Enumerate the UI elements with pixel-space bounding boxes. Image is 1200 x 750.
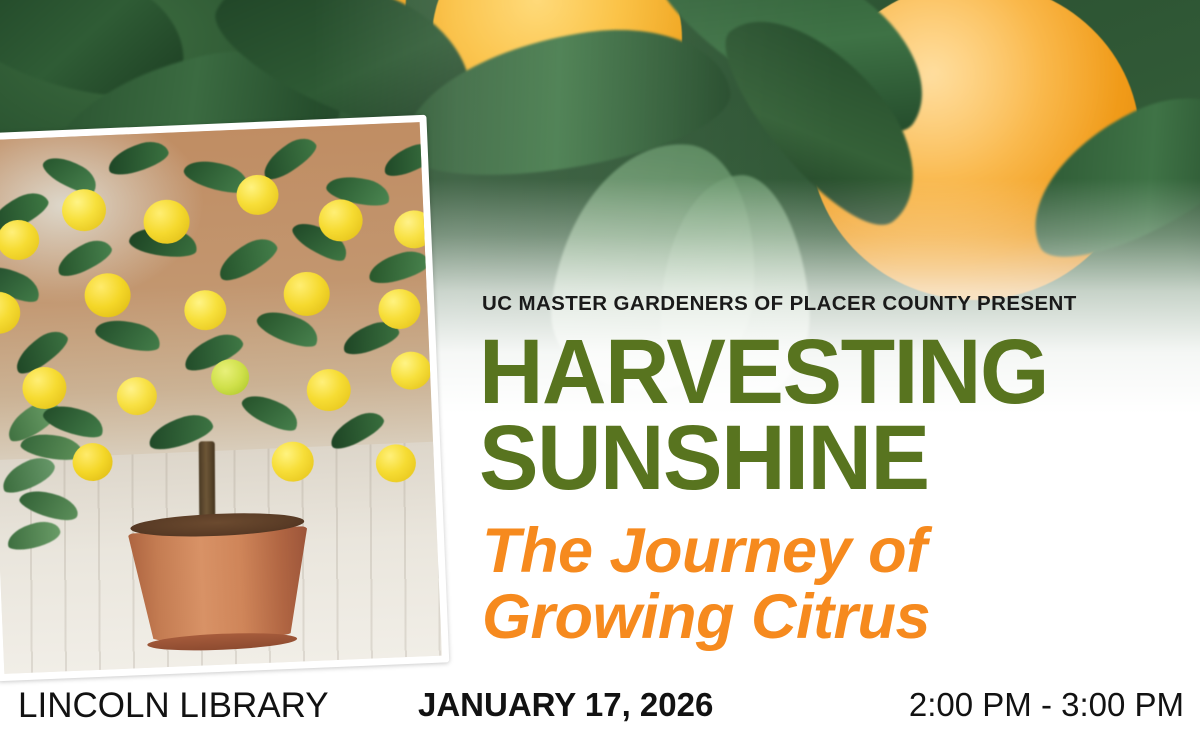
title-line-2: SUNSHINE bbox=[479, 416, 1168, 502]
event-time: 2:00 PM - 3:00 PM bbox=[909, 686, 1184, 724]
event-date: JANUARY 17, 2026 bbox=[418, 686, 713, 724]
inset-photo-frame bbox=[0, 115, 449, 681]
event-flyer: UC MASTER GARDENERS OF PLACER COUNTY PRE… bbox=[0, 0, 1200, 750]
presenter-eyebrow: UC MASTER GARDENERS OF PLACER COUNTY PRE… bbox=[482, 292, 1077, 316]
title-line-1: HARVESTING bbox=[479, 330, 1168, 416]
subtitle-line-1: The Journey of bbox=[482, 518, 1182, 584]
page-title: HARVESTING SUNSHINE bbox=[479, 330, 1168, 501]
event-venue: LINCOLN LIBRARY bbox=[18, 686, 329, 726]
inset-potted-citrus-photo bbox=[0, 122, 442, 674]
event-details-bar: LINCOLN LIBRARY JANUARY 17, 2026 2:00 PM… bbox=[0, 686, 1200, 744]
inset-tree-canopy bbox=[0, 132, 442, 504]
subtitle-line-2: Growing Citrus bbox=[482, 584, 1182, 650]
inset-terracotta-pot bbox=[114, 507, 325, 648]
page-subtitle: The Journey of Growing Citrus bbox=[482, 518, 1182, 650]
inset-pot-body bbox=[128, 526, 312, 641]
